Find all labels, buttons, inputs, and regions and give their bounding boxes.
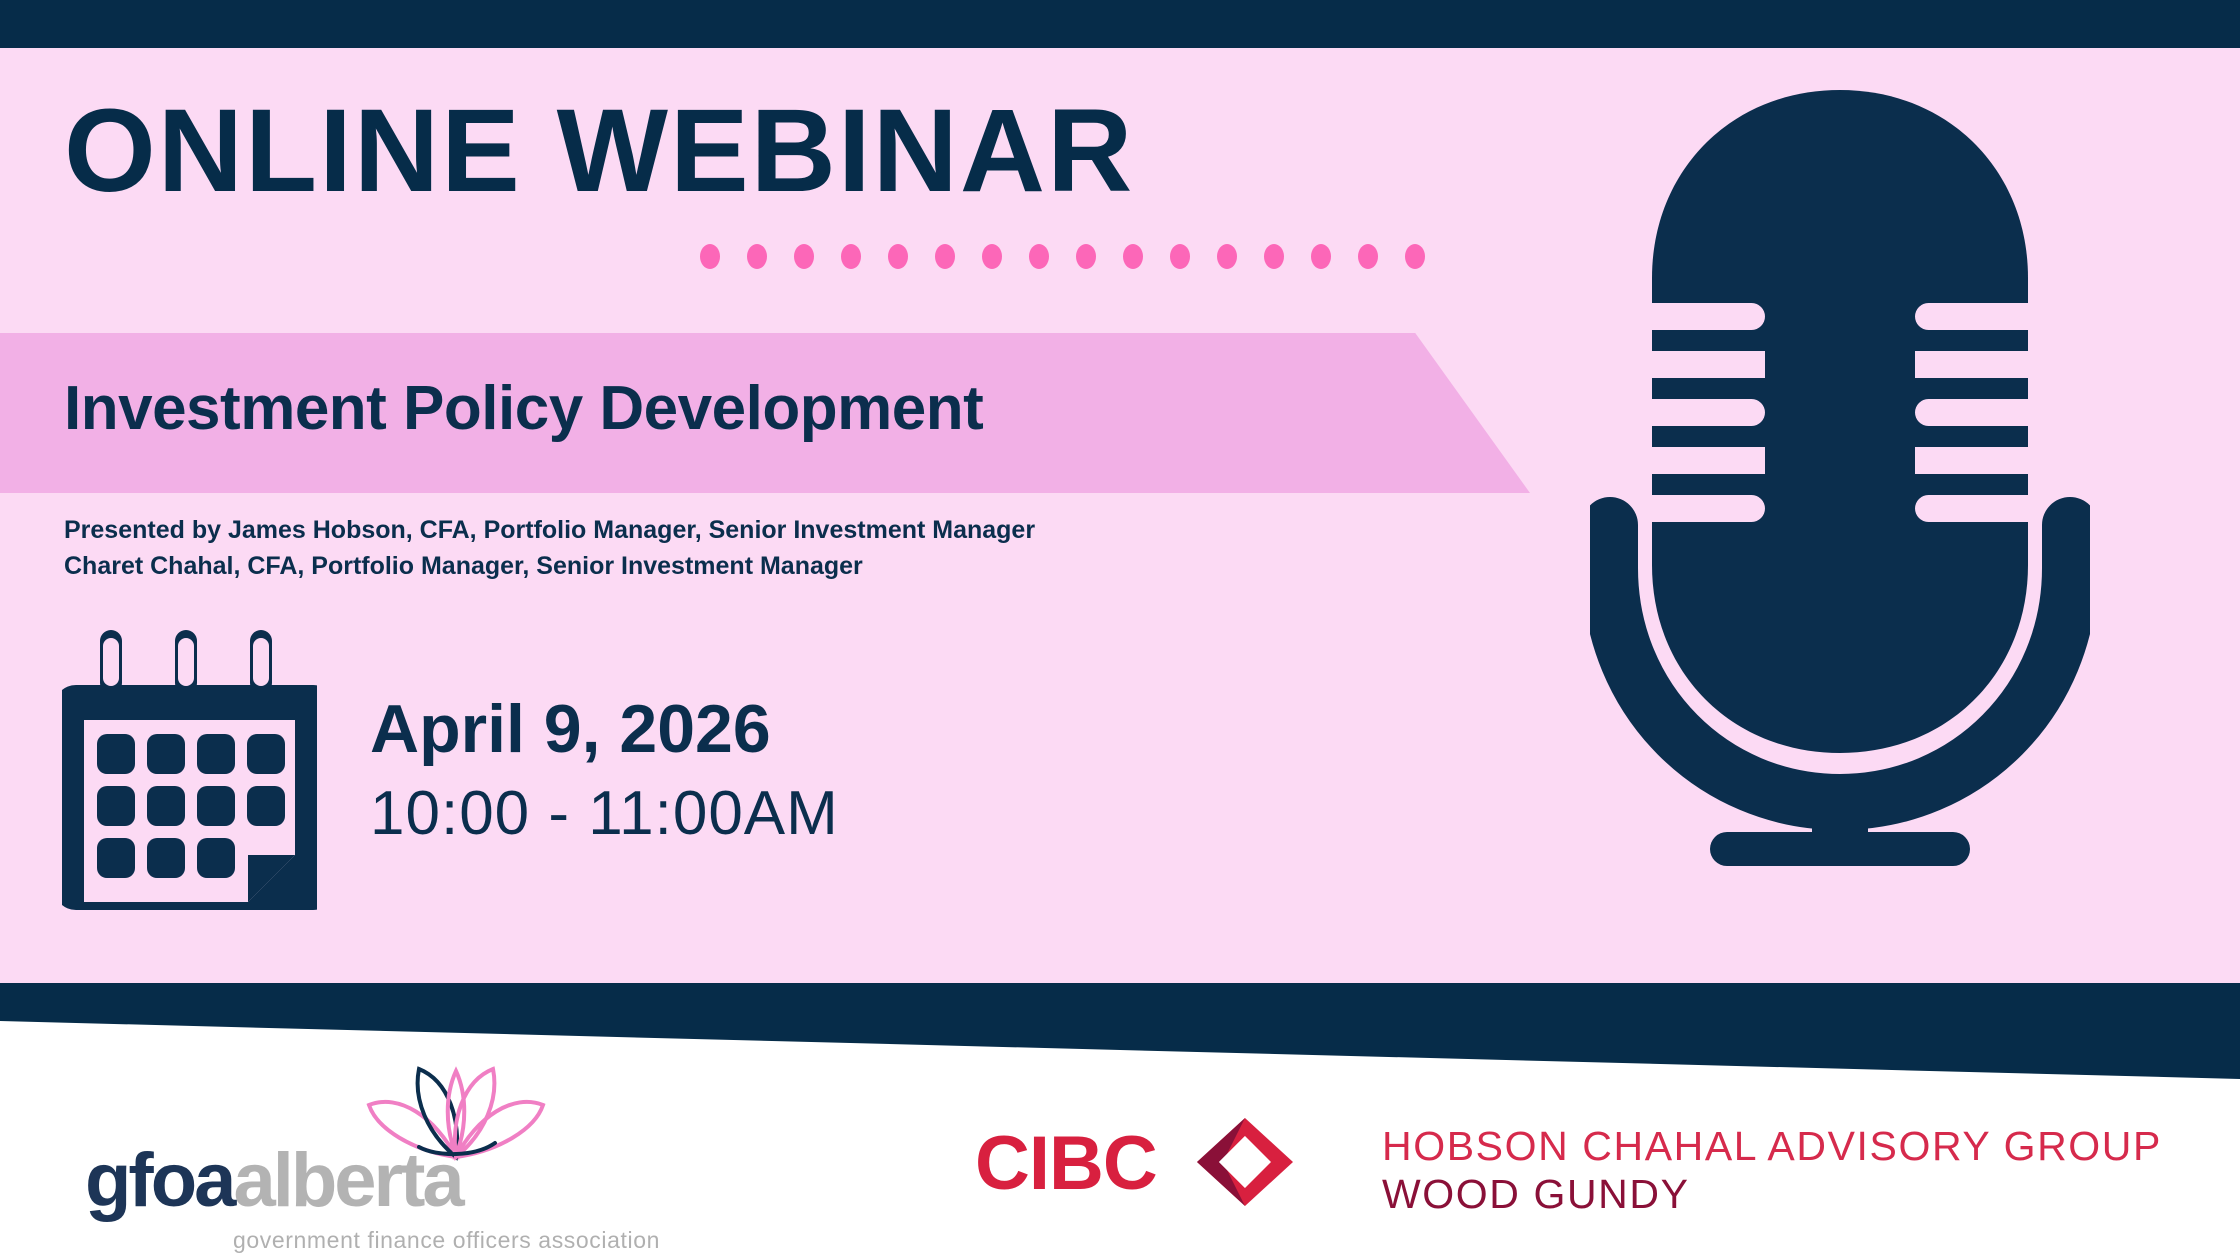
presenters-block: Presented by James Hobson, CFA, Portfoli… (64, 512, 1035, 584)
event-date: April 9, 2026 (370, 690, 771, 768)
presenter-line-1: Presented by James Hobson, CFA, Portfoli… (64, 512, 1035, 548)
cibc-diamond-icon (1197, 1118, 1293, 1206)
dot (935, 244, 955, 269)
advisory-group-lockup: HOBSON CHAHAL ADVISORY GROUP WOOD GUNDY (1382, 1122, 2162, 1219)
top-navy-bar (0, 0, 2240, 48)
dot (1217, 244, 1237, 269)
calendar-icon (62, 630, 317, 910)
wood-gundy-name: WOOD GUNDY (1382, 1170, 2162, 1218)
dot (888, 244, 908, 269)
dot (1076, 244, 1096, 269)
event-time: 10:00 - 11:00AM (370, 778, 839, 849)
session-title: Investment Policy Development (64, 373, 983, 444)
dot (1358, 244, 1378, 269)
dot (1123, 244, 1143, 269)
dot (841, 244, 861, 269)
dot (1311, 244, 1331, 269)
gfoa-wordmark: gfoaalberta (85, 1137, 462, 1224)
dotted-rule (700, 244, 1425, 269)
dot (747, 244, 767, 269)
dot (1029, 244, 1049, 269)
advisory-group-name: HOBSON CHAHAL ADVISORY GROUP (1382, 1122, 2162, 1170)
page-title: ONLINE WEBINAR (64, 92, 1134, 210)
dot (700, 244, 720, 269)
webinar-poster: ONLINE WEBINAR Investment Policy Develop… (0, 0, 2240, 1260)
gfoa-alberta-logo: gfoaalberta government finance officers … (85, 1055, 585, 1245)
dot (982, 244, 1002, 269)
presenter-line-2: Charet Chahal, CFA, Portfolio Manager, S… (64, 548, 1035, 584)
gfoa-tagline: government finance officers association (233, 1227, 660, 1254)
dot (1264, 244, 1284, 269)
gfoa-word-part2: alberta (233, 1138, 461, 1223)
dot (1170, 244, 1190, 269)
dot (794, 244, 814, 269)
microphone-icon (1590, 60, 2090, 890)
gfoa-word-part1: gfoa (85, 1138, 233, 1223)
dot (1405, 244, 1425, 269)
cibc-logo: CIBC (975, 1118, 1315, 1208)
cibc-wordmark: CIBC (975, 1120, 1157, 1207)
